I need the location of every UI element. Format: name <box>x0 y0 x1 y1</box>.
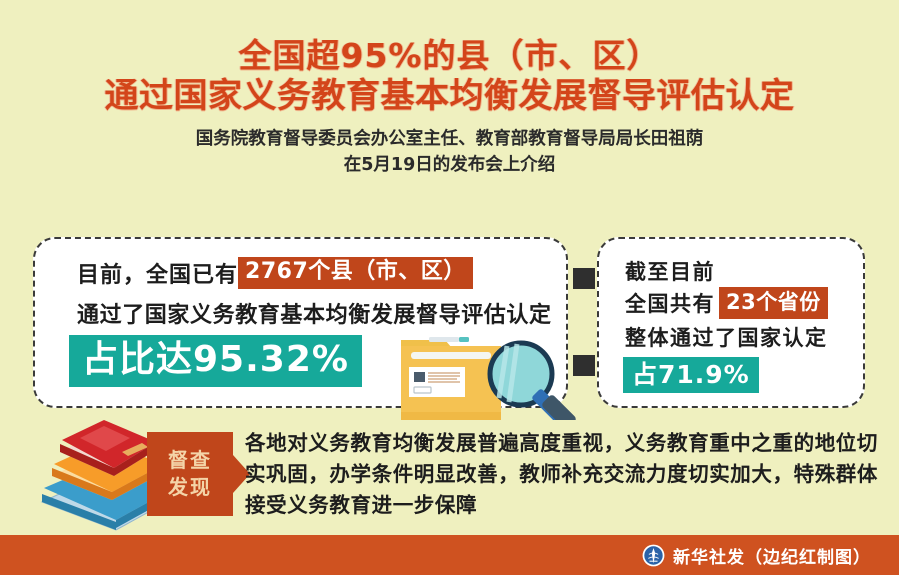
left-card-percent-highlight: 占比达95.32% <box>69 335 362 387</box>
subtitle-line-1: 国务院教育督导委员会办公室主任、教育部教育督导局局长田祖荫 <box>0 126 899 152</box>
title-line-2: 通过国家义务教育基本均衡发展督导评估认定 <box>0 76 899 116</box>
left-card-row-2: 通过了国家义务教育基本均衡发展督导评估认定 <box>77 297 552 329</box>
right-card-line-3: 整体通过了国家认定 <box>625 322 828 352</box>
right-card-percent-highlight: 占71.9% <box>623 357 759 393</box>
left-card-row-1: 目前，全国已有 2767个县（市、区） <box>77 257 473 289</box>
statistic-card-provinces: 截至目前 全国共有 23个省份 整体通过了国家认定 占71.9% <box>597 237 865 408</box>
right-card-line-1: 截至目前 <box>625 256 715 286</box>
xinhua-logo-icon <box>642 544 665 567</box>
footer-credit: 新华社发（边纪红制图） <box>642 543 871 568</box>
header: 全国超95%的县（市、区） 通过国家义务教育基本均衡发展督导评估认定 国务院教育… <box>0 36 899 178</box>
right-card-line-2: 全国共有 23个省份 <box>625 287 828 319</box>
folder-tab-label-icon <box>459 337 469 342</box>
subtitle-line-2: 在5月19日的发布会上介绍 <box>0 152 899 178</box>
card-connector-top <box>573 268 595 289</box>
folder-tab-paper-icon <box>429 337 459 342</box>
infographic-poster: 全国超95%的县（市、区） 通过国家义务教育基本均衡发展督导评估认定 国务院教育… <box>0 0 899 575</box>
left-card-prefix: 目前，全国已有 <box>77 257 238 289</box>
finding-paragraph: 各地对义务教育均衡发展普遍高度重视，义务教育重中之重的地位切实巩固，办学条件明显… <box>245 428 885 521</box>
right-card-prefix: 全国共有 <box>625 288 715 318</box>
right-card-count-highlight: 23个省份 <box>719 287 828 319</box>
folder-front-icon <box>401 412 501 420</box>
folder-magnifier-illustration <box>395 332 605 420</box>
footer-bar: 新华社发（边纪红制图） <box>0 535 899 575</box>
left-card-count-highlight: 2767个县（市、区） <box>238 257 473 289</box>
document-thumb-icon <box>414 372 425 382</box>
footer-credit-text: 新华社发（边纪红制图） <box>673 543 871 568</box>
folder-stripe-icon <box>411 352 491 359</box>
finding-tag-line-2: 发现 <box>168 474 212 501</box>
finding-tag-line-1: 督查 <box>168 447 212 474</box>
title-line-1: 全国超95%的县（市、区） <box>0 36 899 76</box>
finding-tag: 督查 发现 <box>147 432 233 516</box>
